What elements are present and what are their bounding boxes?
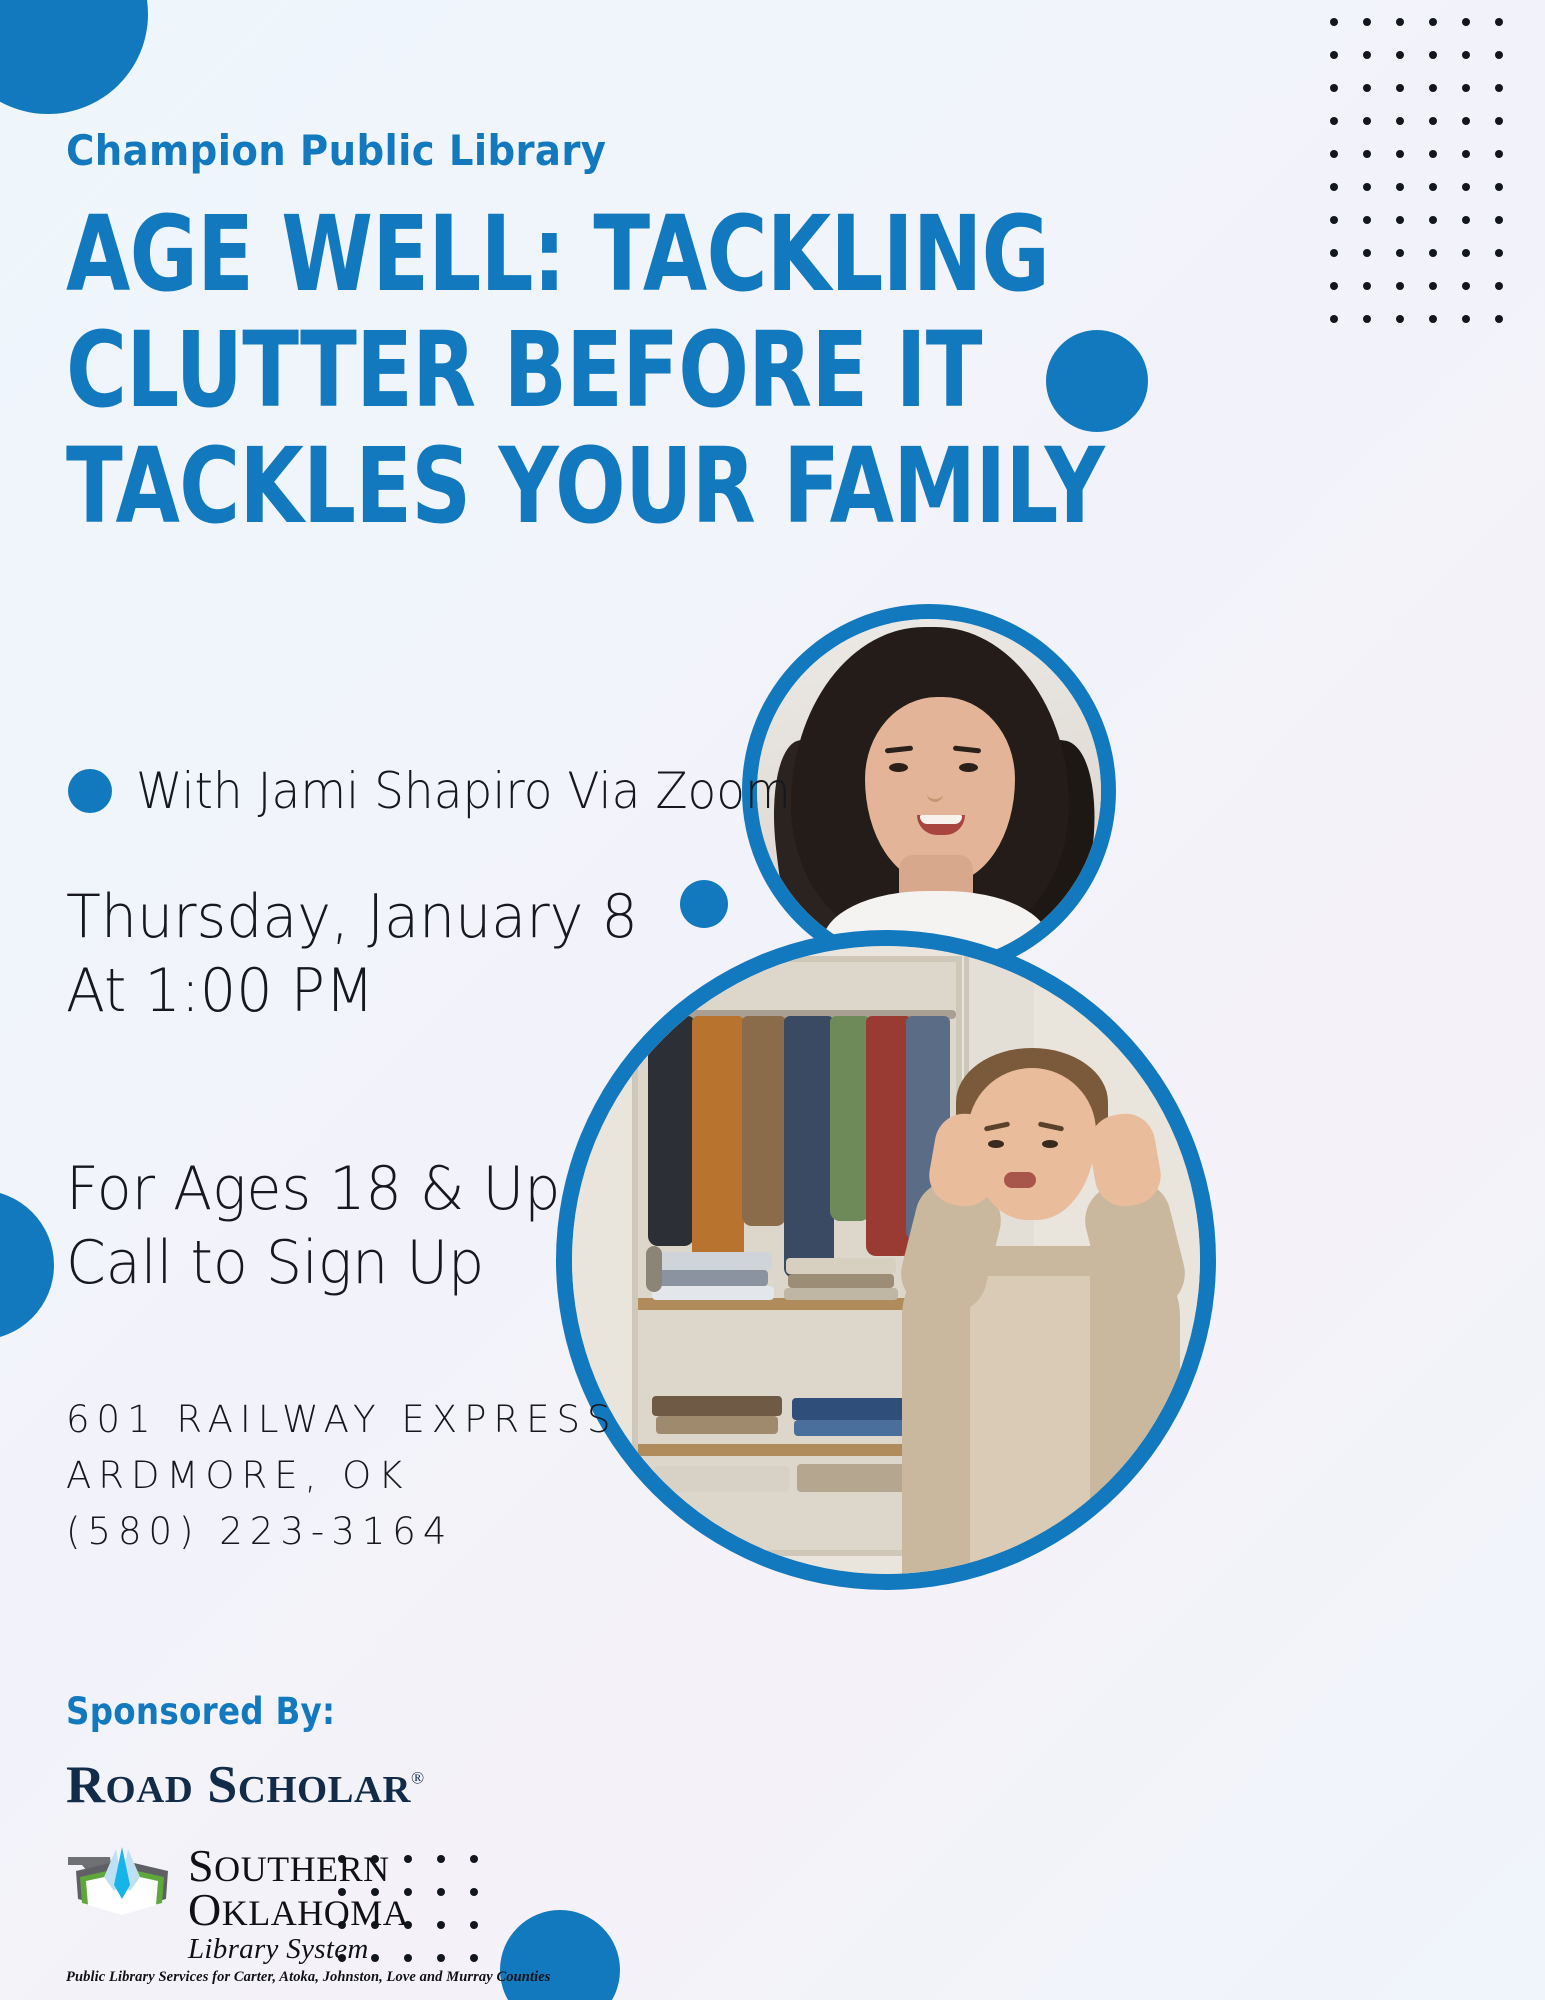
grid-dot [1330,18,1338,26]
venue-address-block: 601 Railway Express Ardmore, OK (580) 22… [66,1392,618,1560]
grid-dot [1429,216,1437,224]
grid-dot [1396,216,1404,224]
grid-dot [1462,249,1470,257]
grid-dot [1429,183,1437,191]
grid-dot [1396,117,1404,125]
grid-dot [1462,315,1470,323]
southern-oklahoma-library-system-logo: SOUTHERN OKLAHOMA Library System [66,1841,586,1962]
grid-dot [1429,249,1437,257]
grid-dot [1363,282,1371,290]
grid-dot [1495,315,1503,323]
registered-trademark-icon: ® [411,1768,425,1787]
grid-dot [1429,282,1437,290]
grid-dot [1495,84,1503,92]
grid-dot [1363,51,1371,59]
grid-dot [1462,183,1470,191]
library-system-wordmark: SOUTHERN OKLAHOMA Library System [188,1841,409,1962]
grid-dot [1462,282,1470,290]
grid-dot [1429,18,1437,26]
grid-dot [1330,51,1338,59]
page-title: Age Well: Tackling Clutter Before It Tac… [66,196,1076,544]
grid-dot [1429,315,1437,323]
grid-dot [1396,18,1404,26]
grid-dot [1330,84,1338,92]
closet-photo-circle [556,930,1216,1590]
road-scholar-s: S [207,1756,238,1814]
grid-dot [1363,216,1371,224]
grid-dot [1495,183,1503,191]
grid-dot [1495,18,1503,26]
grid-dot [1429,117,1437,125]
grid-dot [1495,249,1503,257]
grid-dot [1363,249,1371,257]
grid-dot [1396,249,1404,257]
open-book-and-state-icon [66,1841,178,1933]
grid-dot [1330,216,1338,224]
speaker-row: With Jami Shapiro Via Zoom [68,762,833,820]
sponsors-block: Sponsored By: ROAD SCHOLAR® SOUTHERN OKL… [66,1690,586,1986]
grid-dot [1330,183,1338,191]
sols-line-library-system: Library System [188,1936,409,1963]
event-date: Thursday, January 8 [66,880,638,954]
grid-dot [1330,150,1338,158]
event-datetime-block: Thursday, January 8 At 1:00 PM [66,880,668,1028]
grid-dot [1330,282,1338,290]
decorative-circle-top-left [0,0,148,114]
speaker-label: With Jami Shapiro Via Zoom [136,762,791,820]
grid-dot [1462,150,1470,158]
grid-dot [1462,18,1470,26]
grid-dot [1462,51,1470,59]
phone-number[interactable]: (580) 223-3164 [66,1504,618,1560]
sponsored-by-label: Sponsored By: [66,1690,524,1733]
address-street: 601 Railway Express [66,1392,618,1448]
sols-line-oklahoma: OKLAHOMA [188,1889,409,1931]
grid-dot [1495,216,1503,224]
grid-dot [1429,150,1437,158]
headline-line-1: Age Well: Tackling [66,196,874,312]
grid-dot [1495,150,1503,158]
bullet-icon [68,769,112,813]
grid-dot [1462,84,1470,92]
audience-block: For Ages 18 & Up Call to Sign Up [66,1152,586,1300]
decorative-circle-bottom-left [0,1190,54,1340]
grid-dot [1396,51,1404,59]
closet-photo [572,946,1200,1574]
grid-dot [1396,183,1404,191]
grid-dot [1330,117,1338,125]
grid-dot [1396,282,1404,290]
road-scholar-oad: OAD [106,1769,194,1811]
poster-canvas: Champion Public Library Age Well: Tackli… [0,0,1545,2000]
grid-dot [1495,51,1503,59]
dot-grid-top-right [1330,18,1530,348]
grid-dot [1396,150,1404,158]
grid-dot [1330,315,1338,323]
event-time: At 1:00 PM [66,954,638,1028]
road-scholar-r: R [66,1756,106,1814]
headline-line-3: Tackles Your Family [66,428,874,544]
sols-line-southern: SOUTHERN [188,1845,409,1887]
address-city-state: Ardmore, OK [66,1448,618,1504]
grid-dot [1363,150,1371,158]
headline-line-2: Clutter Before It [66,312,874,428]
decorative-circle-mid [680,880,728,928]
grid-dot [1429,51,1437,59]
grid-dot [1363,315,1371,323]
grid-dot [1363,117,1371,125]
organization-name: Champion Public Library [66,126,606,175]
grid-dot [1396,315,1404,323]
road-scholar-logo: ROAD SCHOLAR® [66,1755,596,1815]
audience-age: For Ages 18 & Up [66,1152,560,1226]
grid-dot [1363,18,1371,26]
grid-dot [1429,84,1437,92]
grid-dot [1462,117,1470,125]
grid-dot [1396,84,1404,92]
library-system-tagline: Public Library Services for Carter, Atok… [66,1969,586,1986]
grid-dot [1495,282,1503,290]
grid-dot [1462,216,1470,224]
grid-dot [1363,84,1371,92]
grid-dot [1330,249,1338,257]
road-scholar-cholar: CHOLAR [238,1769,411,1811]
grid-dot [1495,117,1503,125]
grid-dot [1363,183,1371,191]
signup-instruction: Call to Sign Up [66,1226,560,1300]
